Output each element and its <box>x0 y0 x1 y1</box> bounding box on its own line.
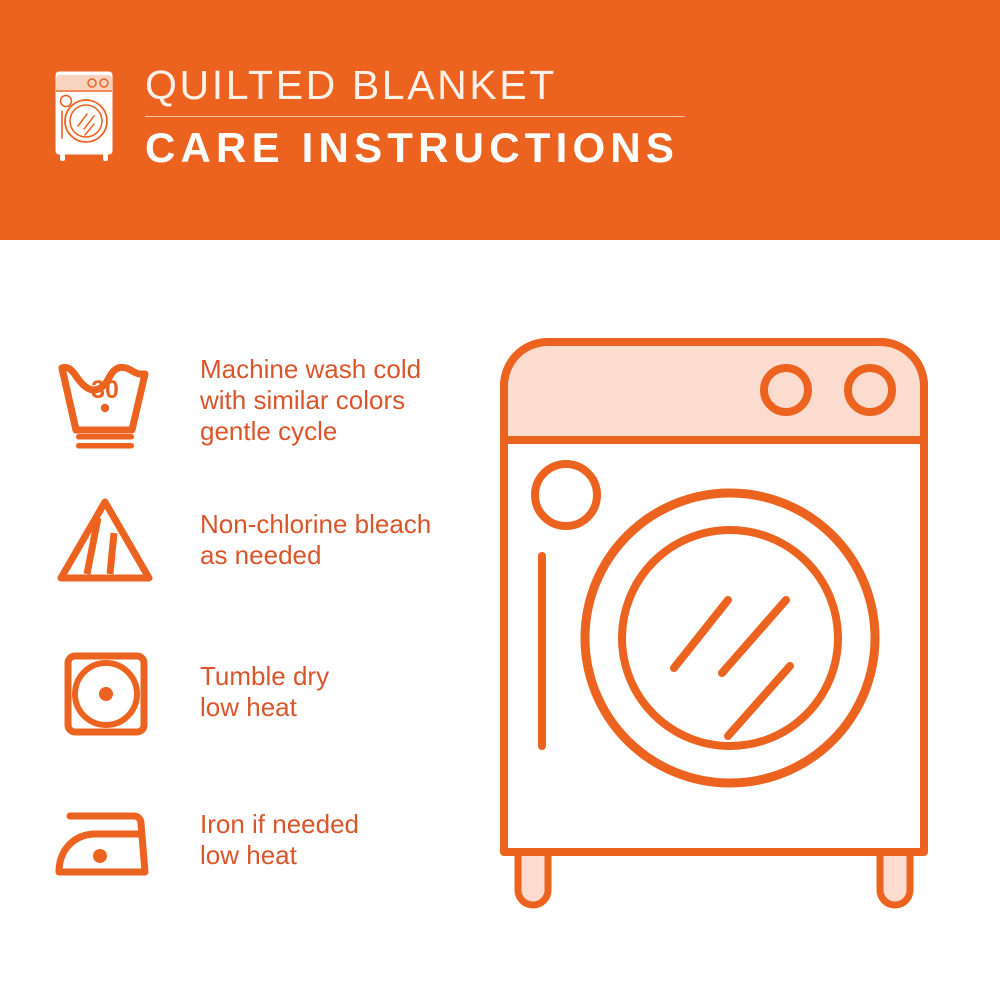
care-instruction-text: Machine wash cold with similar colors ge… <box>200 354 421 447</box>
care-instructions-infographic: QUILTED BLANKET CARE INSTRUCTIONS 3 <box>0 0 1000 1000</box>
title-block: QUILTED BLANKET CARE INSTRUCTIONS <box>145 62 685 172</box>
page-title-secondary: CARE INSTRUCTIONS <box>145 124 685 172</box>
care-instruction-list: 30 Machine wash cold with similar colors… <box>0 240 480 1000</box>
tumble-dry-low-heat-icon <box>48 640 168 744</box>
header-band: QUILTED BLANKET CARE INSTRUCTIONS <box>0 0 1000 240</box>
machine-wash-30-gentle-icon: 30 <box>48 348 168 452</box>
care-instruction-row: 30 Machine wash cold with similar colors… <box>48 348 468 452</box>
care-instruction-row: Tumble dry low heat <box>48 640 468 744</box>
washer-leg-left <box>518 848 548 905</box>
washer-control-panel <box>504 342 924 440</box>
washing-machine-icon <box>45 66 123 166</box>
title-divider <box>145 116 685 117</box>
non-chlorine-bleach-triangle-icon <box>48 488 168 592</box>
iron-low-heat-icon <box>48 788 168 892</box>
front-load-washing-machine-illustration <box>490 328 960 928</box>
header-content: QUILTED BLANKET CARE INSTRUCTIONS <box>45 62 685 172</box>
care-instruction-text: Non-chlorine bleach as needed <box>200 509 431 571</box>
care-instruction-text: Tumble dry low heat <box>200 661 329 723</box>
wash-temperature-label: 30 <box>91 376 119 404</box>
washer-leg-right <box>880 848 910 905</box>
care-instruction-row: Non-chlorine bleach as needed <box>48 488 468 592</box>
care-instruction-row: Iron if needed low heat <box>48 788 468 892</box>
page-title-primary: QUILTED BLANKET <box>145 62 685 108</box>
care-instruction-text: Iron if needed low heat <box>200 809 359 871</box>
